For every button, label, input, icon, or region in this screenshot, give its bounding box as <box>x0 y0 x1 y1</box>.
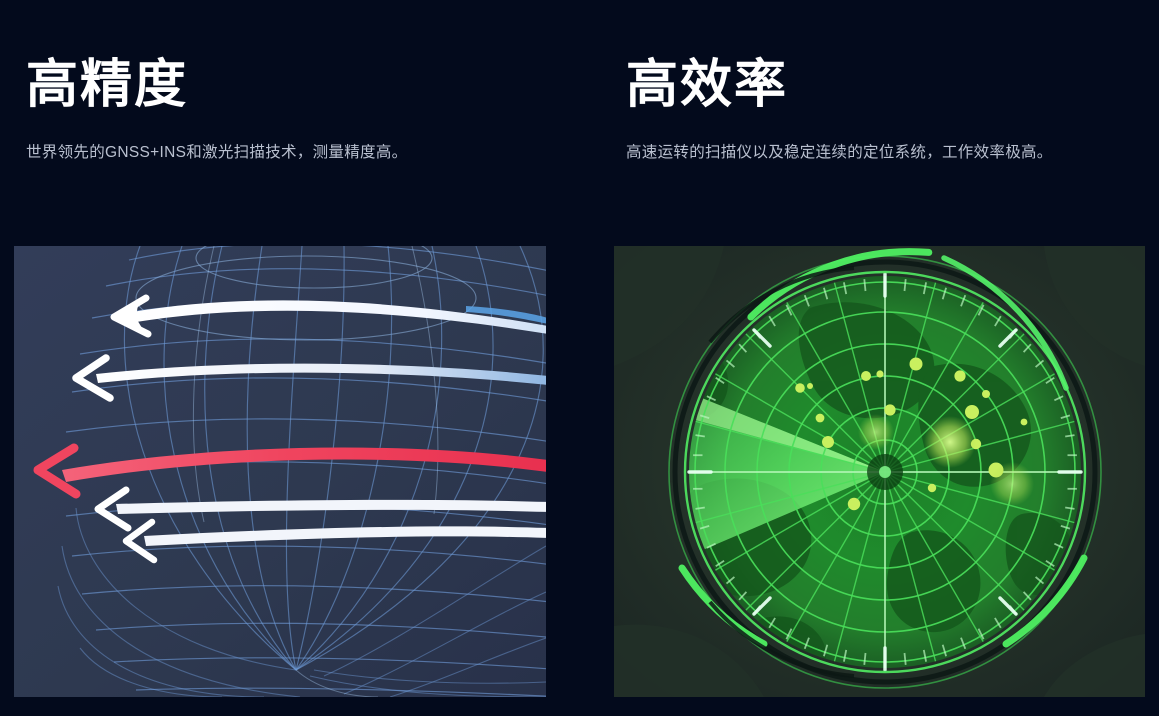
feature-image-globe-flowlines <box>14 246 546 697</box>
feature-description-high-precision: 世界领先的GNSS+INS和激光扫描技术，测量精度高。 <box>26 143 407 163</box>
feature-section: 高精度 世界领先的GNSS+INS和激光扫描技术，测量精度高。 <box>0 0 1159 716</box>
feature-title-high-precision: 高精度 <box>26 54 188 116</box>
feature-description-high-efficiency: 高速运转的扫描仪以及稳定连续的定位系统，工作效率极高。 <box>626 143 1053 163</box>
feature-card-high-precision: 高精度 世界领先的GNSS+INS和激光扫描技术，测量精度高。 <box>0 0 580 716</box>
feature-image-radar-scope <box>614 246 1145 697</box>
feature-title-high-efficiency: 高效率 <box>626 54 788 116</box>
